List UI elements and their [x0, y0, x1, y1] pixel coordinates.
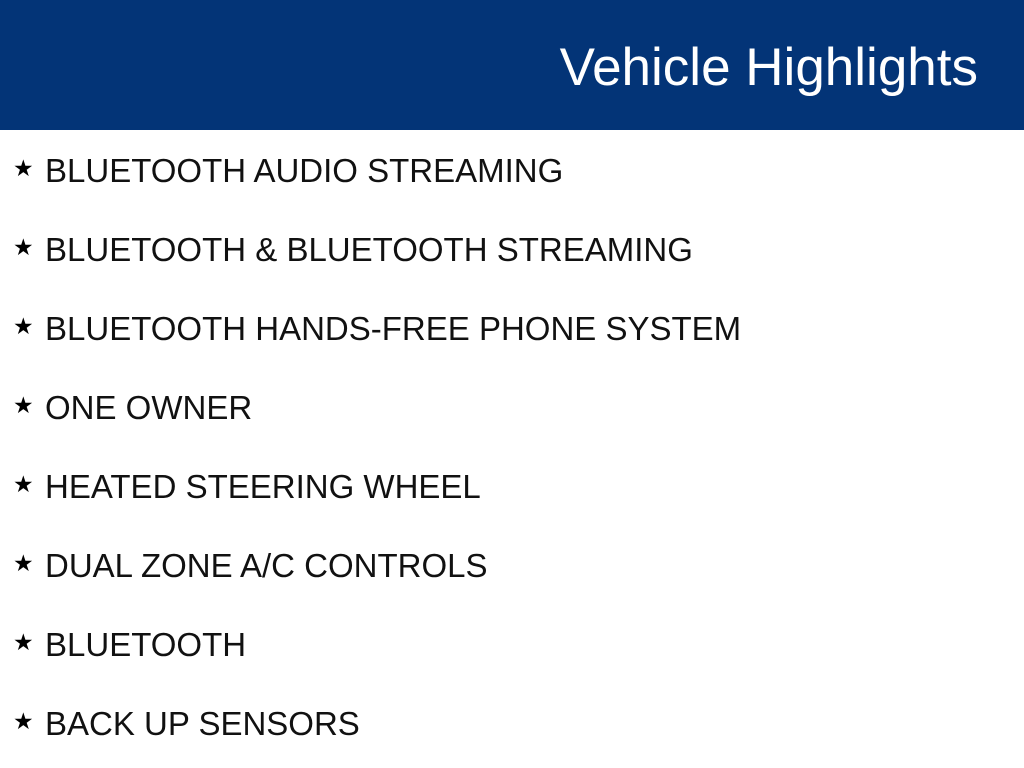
list-item: ★ BACK UP SENSORS	[13, 703, 360, 743]
star-icon: ★	[13, 316, 35, 339]
star-icon: ★	[13, 158, 35, 181]
highlight-label: ONE OWNER	[45, 391, 252, 424]
vehicle-highlights-slide: Vehicle Highlights ★ BLUETOOTH AUDIO STR…	[0, 0, 1024, 768]
star-icon: ★	[13, 632, 35, 655]
list-item: ★ ONE OWNER	[13, 387, 252, 427]
star-icon: ★	[13, 711, 35, 734]
star-icon: ★	[13, 474, 35, 497]
highlight-label: BACK UP SENSORS	[45, 707, 360, 740]
page-title: Vehicle Highlights	[560, 41, 978, 94]
highlight-label: BLUETOOTH HANDS-FREE PHONE SYSTEM	[45, 312, 741, 345]
vehicle-highlights-list: ★ BLUETOOTH AUDIO STREAMING ★ BLUETOOTH …	[0, 130, 1024, 768]
list-item: ★ BLUETOOTH & BLUETOOTH STREAMING	[13, 229, 693, 269]
list-item: ★ DUAL ZONE A/C CONTROLS	[13, 545, 488, 585]
highlight-label: BLUETOOTH & BLUETOOTH STREAMING	[45, 233, 693, 266]
list-item: ★ BLUETOOTH	[13, 624, 246, 664]
highlight-label: BLUETOOTH	[45, 628, 246, 661]
list-item: ★ BLUETOOTH HANDS-FREE PHONE SYSTEM	[13, 308, 741, 348]
star-icon: ★	[13, 395, 35, 418]
list-item: ★ HEATED STEERING WHEEL	[13, 466, 481, 506]
highlight-label: BLUETOOTH AUDIO STREAMING	[45, 154, 563, 187]
highlight-label: DUAL ZONE A/C CONTROLS	[45, 549, 488, 582]
star-icon: ★	[13, 553, 35, 576]
highlight-label: HEATED STEERING WHEEL	[45, 470, 481, 503]
header-band: Vehicle Highlights	[0, 0, 1024, 130]
list-item: ★ BLUETOOTH AUDIO STREAMING	[13, 150, 563, 190]
star-icon: ★	[13, 237, 35, 260]
